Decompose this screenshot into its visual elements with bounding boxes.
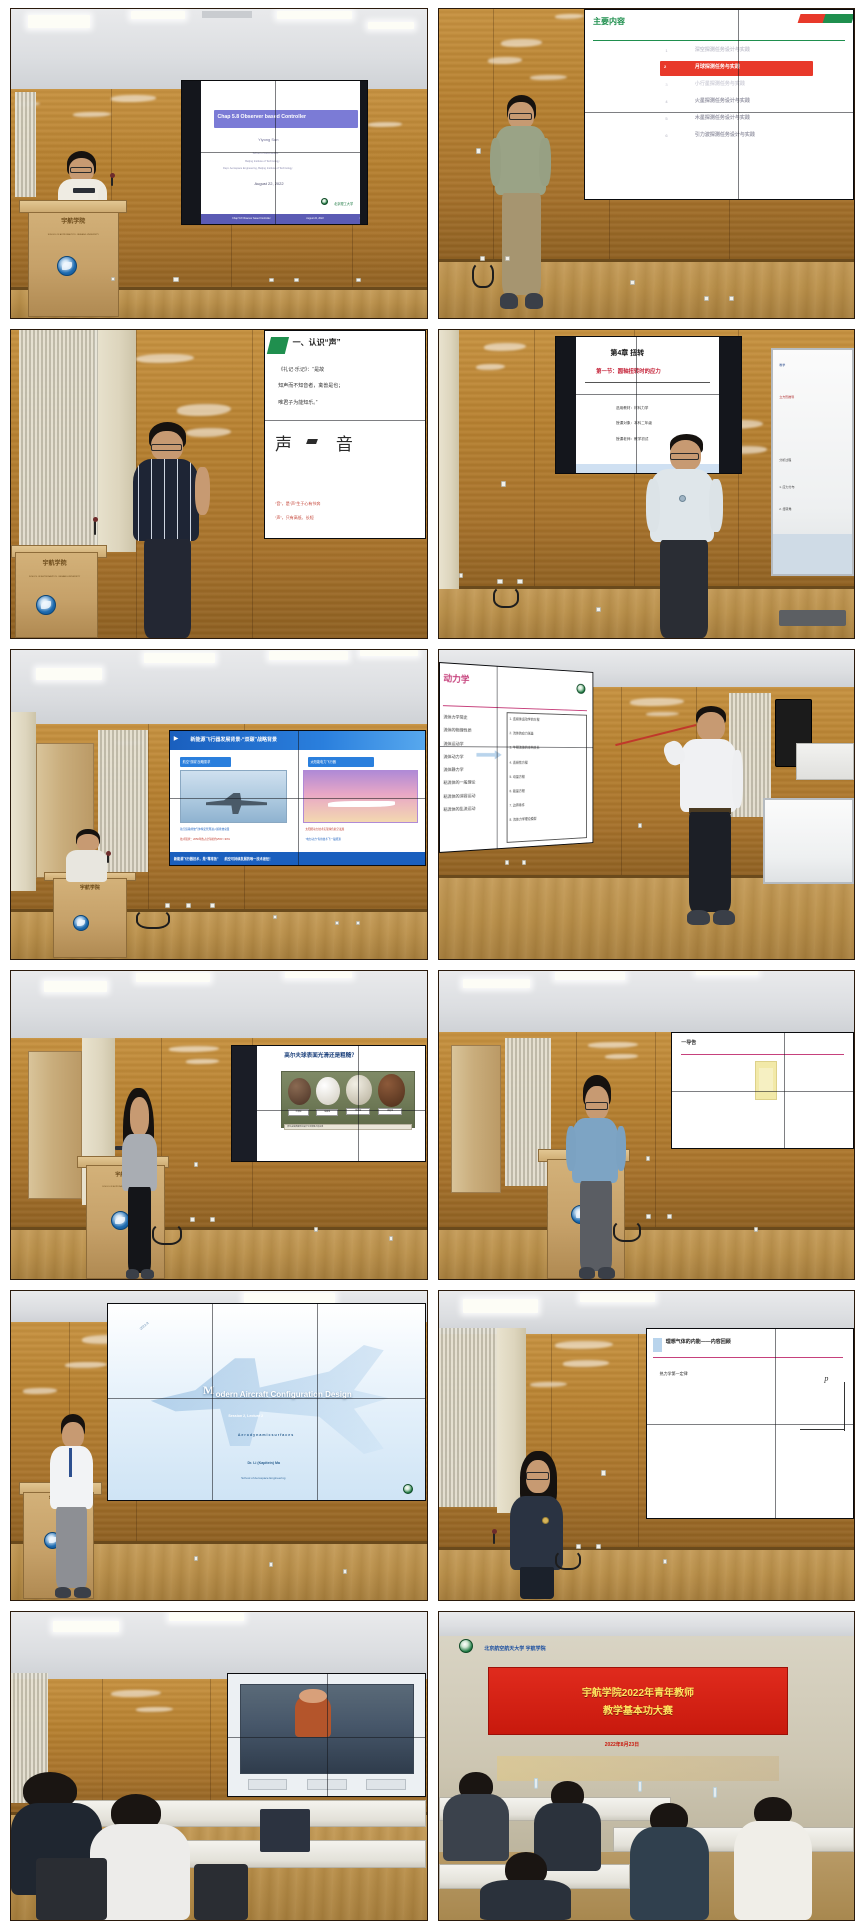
banner-line-1: 宇航学院2022年青年教师 — [582, 1684, 694, 1699]
podium-label: 宇航学院 — [32, 216, 115, 225]
whiteboard — [763, 798, 854, 884]
slide-lecturer: Dr. Li (Kapitein) Ma — [247, 1461, 280, 1465]
slide-title: 动力学 — [443, 671, 469, 685]
photo-11 — [10, 1611, 428, 1922]
photo-4: 第4章 扭转 第一节：圆轴扭转时的应力 选用教材：材料力学 授课对象：本科二年级… — [438, 329, 856, 640]
toc-text: 火星探测任务设计与实践 — [695, 97, 750, 104]
microphone — [493, 1532, 495, 1544]
wall-socket — [480, 256, 485, 261]
photo-10: 理想气体的内能——内容回顾 热力学第一定律 p — [438, 1290, 856, 1601]
display-wall: 一、认识“声” 《礼记·乐记》：“是故 知声而不知音者，禽兽是也； 唯君子为能知… — [264, 330, 426, 540]
power-cable — [493, 586, 519, 608]
wall-socket — [754, 1227, 758, 1232]
slide-title: 第4章 扭转 — [610, 348, 644, 358]
wall-socket — [630, 280, 635, 285]
right-num: 5 — [509, 775, 511, 779]
ceiling — [439, 1612, 855, 1637]
ceiling — [11, 1612, 427, 1680]
presenter — [567, 1075, 629, 1279]
power-cable — [136, 909, 170, 929]
wall-socket — [667, 1214, 672, 1219]
video-control[interactable] — [307, 1779, 346, 1790]
display-wall: Chap 5.8 Observer based Controller Yiyon… — [181, 80, 368, 225]
window-blinds — [505, 1038, 551, 1186]
university-crest-icon — [321, 198, 328, 205]
video-control[interactable] — [248, 1779, 287, 1790]
whiteboard: 教学 立方形推导 分析过程 1. 应力分布 2. 扭转角 — [771, 348, 854, 576]
slide-logo-text: 北京理工大学 — [334, 201, 353, 206]
toc-text: 木星探测任务设计与实践 — [695, 114, 750, 121]
slide-footer-right: August 22, 2022 — [306, 217, 323, 220]
university-crest-icon — [576, 684, 585, 694]
slide-footer-right: 航空可持续发展的唯一技术途径！ — [225, 856, 273, 861]
photo-2: 主要内容 1 深空探测任务设计与实践 2 月球探测任务与实践 3 小行星探测任务… — [438, 8, 856, 319]
display-wall: 理想气体的内能——内容回顾 热力学第一定律 p — [646, 1328, 854, 1519]
right-num: 2 — [509, 732, 511, 736]
slide-affil-2: Beijing Institute of Technology — [245, 160, 279, 163]
photo-12: 北京航空航天大学 宇航学院 宇航学院2022年青年教师 教学基本功大赛 2022… — [438, 1611, 856, 1922]
toc-num: 6 — [665, 133, 667, 138]
left-item: 流体运动学 — [443, 741, 463, 747]
presenter — [127, 422, 218, 638]
laptop — [73, 188, 95, 193]
podium-label: 宇航学院 — [53, 884, 128, 891]
right-num: 6 — [509, 790, 511, 794]
right-num: 3 — [509, 746, 511, 750]
slide-date: August 22, 2022 — [254, 181, 283, 186]
right-num: 8 — [509, 818, 511, 822]
wall-socket — [505, 256, 510, 261]
wall-socket — [596, 1544, 601, 1549]
wall-socket — [194, 1162, 198, 1167]
right-text: 连续性方程 — [512, 761, 527, 765]
slide-bullet-2: 技术现状：2050年热占全球的约25%～90% — [180, 837, 230, 841]
wall-socket — [638, 823, 642, 828]
door — [28, 1051, 82, 1199]
right-num: 7 — [509, 804, 511, 808]
door — [451, 1045, 501, 1193]
slide-fluid-dynamics: 动力学 流体力学简史 流体的物理性质 流体运动学 流体动力学 流体静力学 粘流体… — [439, 663, 591, 852]
left-item: 粘流体的一般理论 — [443, 780, 475, 786]
wall-socket — [646, 1214, 651, 1219]
slide-topic: A e r o d y n a m i c s u r f a c e s — [238, 1433, 293, 1437]
slide-affil-1: School of Astronautics — [253, 152, 279, 155]
wall-socket — [704, 296, 709, 301]
slide-axis-label: p — [824, 1374, 828, 1383]
presenter — [505, 1451, 571, 1599]
slide-bullet-3: 太阳能动力技术实现绿色航空发展 — [305, 827, 344, 831]
podium-top — [19, 200, 127, 212]
floor — [439, 878, 855, 958]
toc-text-active: 月球探测任务与实践 — [695, 63, 740, 70]
left-item: 流体静力学 — [443, 767, 463, 773]
water-bottle — [638, 1781, 642, 1792]
floor — [11, 1230, 427, 1279]
wall-socket — [269, 278, 274, 282]
wall-socket — [343, 1569, 347, 1574]
slide-title: 理想气体的内能——内容回顾 — [666, 1338, 731, 1345]
wall-socket — [646, 1156, 650, 1161]
slide-main-contents: 主要内容 1 深空探测任务设计与实践 2 月球探测任务与实践 3 小行星探测任务… — [585, 10, 853, 199]
photo-8: 一导告 宇航学院 — [438, 970, 856, 1281]
audience-body — [443, 1794, 509, 1862]
audience-body — [480, 1880, 571, 1920]
slide-new-energy-aircraft: ▶ 新能源飞行器发展背景-“双碳”战略背景 航空“双碳”战略需求 太阳能电力飞行… — [170, 731, 426, 865]
window-blinds — [439, 1328, 497, 1507]
pillar — [11, 712, 36, 891]
arrow-icon — [476, 751, 501, 760]
wall-socket — [173, 277, 179, 282]
photo-3: 宇航学院 SCHOOL OF ASTRONAUTICS · BEIHANG UN… — [10, 329, 428, 640]
podium-logo — [36, 595, 56, 615]
right-text: 动量方程 — [512, 775, 524, 779]
slide-school: School of Aerospace Engineering — [241, 1476, 285, 1480]
photo-1: Chap 5.8 Observer based Controller Yiyon… — [10, 8, 428, 319]
slide-title: odern Aircraft Configuration Design — [216, 1390, 352, 1399]
left-item: 粘流体的消容运动 — [443, 793, 475, 800]
slide-bullet-4: “电力动力”专用技术飞一般能源 — [305, 837, 340, 841]
presenter — [646, 434, 729, 638]
slide-title-cap: M — [203, 1383, 214, 1398]
slide-quote-3: 唯君子为能知乐。” — [278, 399, 317, 406]
bezel-grid — [585, 10, 853, 199]
golf-caption-1: 光滑球 — [288, 1109, 310, 1116]
wall-socket — [186, 903, 191, 908]
slide-meta-2: 授课对象：本科二年级 — [616, 421, 652, 426]
slide-session: Session 2, Lecture 2 — [228, 1414, 263, 1418]
toc-num: 4 — [665, 99, 667, 104]
podium-sublabel: SCHOOL OF ASTRONAUTICS · BEIHANG UNIVERS… — [15, 576, 94, 578]
left-item: 粘流体的乱流运动 — [443, 806, 475, 813]
power-cable — [613, 1220, 641, 1242]
pillar — [439, 330, 460, 589]
toc-text: 引力波探测任务设计与实践 — [695, 131, 755, 138]
wall-socket — [165, 903, 170, 908]
university-crest-icon — [403, 1484, 413, 1494]
wall-socket — [389, 1236, 393, 1241]
banner-line-2: 教学基本功大赛 — [603, 1702, 673, 1717]
toc-text: 小行星探测任务与实践 — [695, 80, 745, 87]
wall-socket — [601, 1470, 606, 1476]
floor — [439, 1230, 855, 1279]
wall-socket — [194, 1556, 198, 1561]
wall-socket — [190, 1217, 195, 1222]
microphone — [111, 176, 113, 186]
slide-title: 新能源飞行器发展背景-“双碳”战略背景 — [190, 736, 277, 743]
slide-title: 一、认识“声” — [293, 337, 341, 348]
wall-socket — [663, 1559, 667, 1564]
wall-socket — [459, 573, 463, 578]
banner-host: 北京航空航天大学 宇航学院 — [484, 1645, 545, 1652]
display-wall: 2022.8 M odern Aircraft Configuration De… — [107, 1303, 427, 1500]
display-wall: ▶ 新能源飞行器发展背景-“双碳”战略背景 航空“双碳”战略需求 太阳能电力飞行… — [169, 730, 427, 866]
toc-num: 5 — [665, 116, 667, 121]
wall-socket — [501, 481, 506, 487]
slide-meta-3: 授课老师：教学初试 — [616, 437, 648, 442]
slide-footer-mid: Chap 5.8 Observer based Controller — [232, 217, 270, 220]
display-wall: 一导告 — [671, 1032, 854, 1149]
window-blinds — [15, 92, 36, 197]
left-item: 流体动力学 — [443, 754, 463, 760]
wall-socket — [596, 607, 601, 612]
right-text: 流体的应力张量 — [512, 732, 533, 736]
display-wall: 动力学 流体力学简史 流体的物理性质 流体运动学 流体动力学 流体静力学 粘流体… — [439, 662, 593, 853]
power-cable — [472, 262, 494, 288]
wall-socket — [576, 1544, 581, 1549]
presenter — [44, 1414, 102, 1599]
left-item: 流体的物理性质 — [443, 728, 471, 734]
slide-title: 高尔夫球表面光滑还是粗糙？ — [284, 1051, 357, 1059]
floor — [439, 1550, 855, 1599]
wall-socket — [314, 1227, 318, 1232]
ceiling — [11, 9, 427, 89]
wall-socket — [522, 860, 526, 865]
wall-socket — [505, 860, 509, 865]
golf-caption-2: 毛面球 — [316, 1109, 338, 1116]
display-wall: 高尔夫球表面光滑还是粗糙？ 光滑球 毛面球 凹坑球 突起球 高尔夫球表面凹坑设计… — [231, 1045, 426, 1162]
ceiling — [11, 971, 427, 1039]
slide-title: 主要内容 — [593, 16, 625, 27]
podium-sublabel: SCHOOL OF ASTRONAUTICS · BEIHANG UNIVERS… — [32, 234, 115, 236]
chair[interactable] — [36, 1858, 107, 1920]
toc-text: 深空探测任务设计与实践 — [695, 46, 750, 53]
wall-socket — [111, 277, 115, 281]
slide-video-demo — [228, 1674, 425, 1795]
podium-logo — [57, 256, 77, 276]
golf-caption-4: 突起球 — [378, 1108, 402, 1115]
left-item: 流体力学简史 — [443, 715, 467, 722]
slide-observer-controller: Chap 5.8 Observer based Controller Yiyon… — [182, 81, 367, 224]
wall-socket — [517, 579, 523, 584]
right-num: 1 — [509, 717, 511, 721]
slide-note-2: “声”，只有高低、长短 — [275, 515, 314, 521]
presenter — [115, 1088, 165, 1279]
wall-socket — [210, 903, 215, 908]
toc-num-active: 2 — [664, 64, 666, 69]
presenter — [488, 95, 559, 317]
golf-footnote: 高尔夫球表面凹坑设计与流体阻力的关系 — [284, 1124, 412, 1130]
display-wall — [227, 1673, 426, 1796]
wall-socket — [294, 278, 299, 282]
slide-golf-ball: 高尔夫球表面光滑还是粗糙？ 光滑球 毛面球 凹坑球 突起球 高尔夫球表面凹坑设计… — [257, 1046, 425, 1161]
slide-subtitle: 第一节：圆轴扭转时的应力 — [596, 367, 661, 375]
ceiling — [439, 971, 855, 1033]
power-cable — [555, 1550, 581, 1570]
equipment-cart — [796, 743, 854, 780]
wall-socket — [356, 921, 360, 925]
slide-note-1: “音”，是“声”生于心有节奔 — [275, 501, 320, 507]
microphone — [107, 854, 109, 863]
wall-socket — [269, 1562, 273, 1567]
right-text: 牛顿流体的本构关系 — [512, 746, 539, 750]
slide-aircraft-design: 2022.8 M odern Aircraft Configuration De… — [108, 1304, 426, 1499]
wall-socket — [729, 296, 734, 301]
power-cable — [152, 1223, 182, 1245]
wall-socket — [356, 278, 361, 282]
wall-socket — [497, 579, 503, 584]
slide-year: 2022.8 — [139, 1321, 150, 1331]
photo-7: 高尔夫球表面光滑还是粗糙？ 光滑球 毛面球 凹坑球 突起球 高尔夫球表面凹坑设计… — [10, 970, 428, 1281]
slide-quote-1: 《礼记·乐记》：“是故 — [278, 366, 324, 373]
golf-caption-3: 凹坑球 — [346, 1108, 370, 1115]
equipment-box — [260, 1809, 310, 1852]
right-num: 4 — [509, 761, 511, 765]
water-bottle — [534, 1778, 538, 1789]
ceiling — [11, 650, 427, 724]
banner-decoration — [497, 1756, 780, 1781]
wall-socket — [273, 915, 277, 919]
slide-bullet-1: 航空运输排放气体特定管理进入碳排放总量 — [180, 827, 229, 831]
slide-author: Yiyong Sun — [258, 137, 278, 142]
slide-title: Chap 5.8 Observer based Controller — [217, 114, 306, 120]
photo-9: 2022.8 M odern Aircraft Configuration De… — [10, 1290, 428, 1601]
right-text: 能量方程 — [512, 789, 524, 793]
slide-meta-1: 选用教材：材料力学 — [616, 406, 648, 411]
banner-date: 2022年8月23日 — [605, 1741, 639, 1748]
toc-num: 1 — [665, 48, 667, 53]
slide-thermo-derivation: 一导告 — [672, 1033, 853, 1148]
photo-6: 动力学 流体力学简史 流体的物理性质 流体运动学 流体动力学 流体静力学 粘流体… — [438, 649, 856, 960]
slide-title: 一导告 — [681, 1039, 696, 1046]
microphone — [94, 521, 96, 535]
slide-ideal-gas: 理想气体的内能——内容回顾 热力学第一定律 p — [647, 1329, 853, 1518]
slide-right-tag: 太阳能电力飞行器 — [310, 759, 336, 764]
wall-socket — [335, 921, 339, 925]
slide-acoustics: 一、认识“声” 《礼记·乐记》：“是故 知声而不知音者，禽兽是也； 唯君子为能知… — [265, 331, 425, 539]
whiteboard-tray — [779, 610, 845, 625]
slide-bullet-1: 热力学第一定律 — [660, 1371, 688, 1377]
photo-collage: Chap 5.8 Observer based Controller Yiyon… — [0, 0, 865, 1929]
audience-body — [734, 1821, 813, 1920]
toc-num: 3 — [665, 82, 667, 87]
slide-left-tag: 航空“双碳”战略需求 — [183, 759, 211, 764]
wall-socket — [210, 1217, 215, 1222]
video-control[interactable] — [366, 1779, 405, 1790]
slide-quote-2: 知声而不知音者，禽兽是也； — [278, 382, 343, 389]
slide-affil-3: Dept. Aerospace Engineering, Beijing Ins… — [223, 167, 292, 170]
slide-footer-left: 新能源飞行器技术，是“零排放” — [174, 856, 219, 861]
wall-socket — [476, 148, 481, 154]
presenter — [675, 706, 750, 928]
window-blinds — [19, 330, 98, 552]
podium-label: 宇航学院 — [15, 558, 94, 567]
competition-banner: 宇航学院2022年青年教师 教学基本功大赛 — [488, 1667, 787, 1735]
chair[interactable] — [194, 1864, 248, 1920]
audience-body — [630, 1827, 709, 1920]
water-bottle — [713, 1787, 717, 1798]
photo-5: ▶ 新能源飞行器发展背景-“双碳”战略背景 航空“双碳”战略需求 太阳能电力飞行… — [10, 649, 428, 960]
display-wall: 主要内容 1 深空探测任务设计与实践 2 月球探测任务与实践 3 小行星探测任务… — [584, 9, 854, 200]
